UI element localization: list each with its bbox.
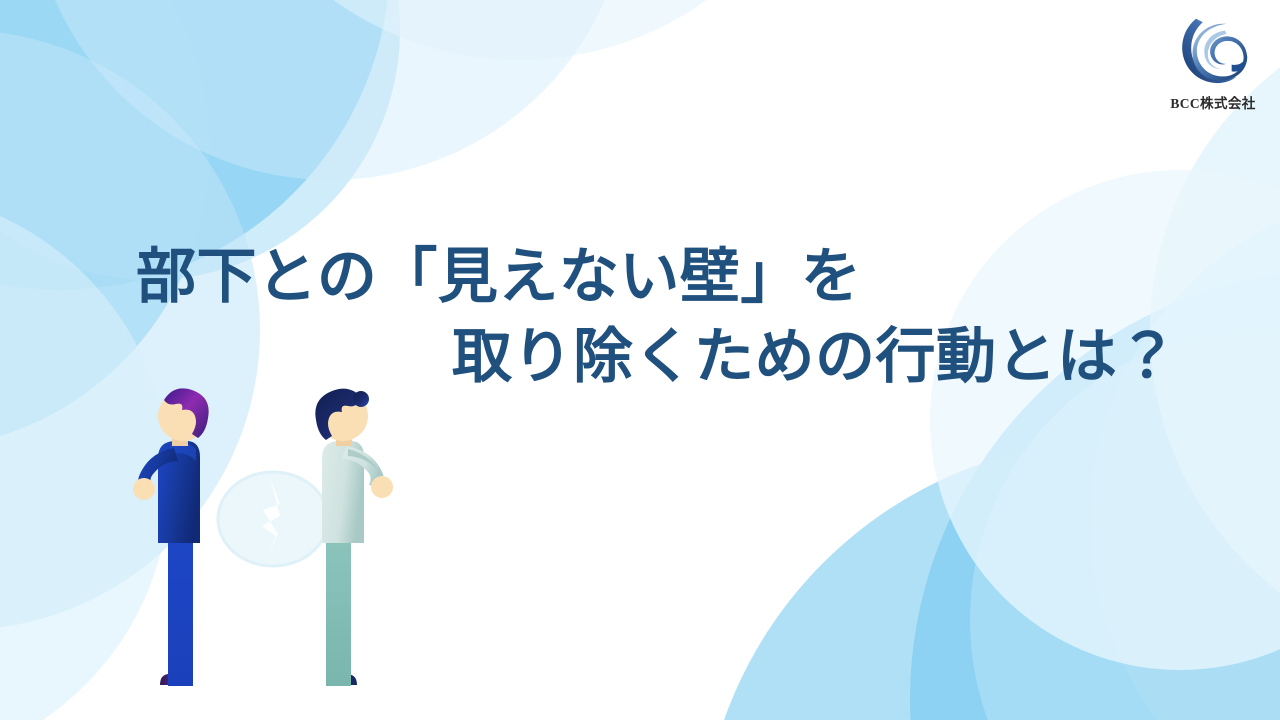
company-name-label: BCC株式会社 bbox=[1158, 92, 1268, 112]
slide-title: 部下との「見えない壁」を 取り除くための行動とは？ bbox=[0, 238, 1280, 398]
bg-circle-tl-7 bbox=[200, 0, 840, 60]
subordinate-pants bbox=[326, 534, 351, 686]
title-line-1: 部下との「見えない壁」を bbox=[0, 238, 1280, 318]
invisible-wall-bubble-icon bbox=[218, 472, 328, 566]
bg-circle-br-2 bbox=[700, 440, 1280, 720]
slide-root: BCC株式会社 部下との「見えない壁」を 取り除くための行動とは？ bbox=[0, 0, 1280, 720]
subordinate-hand bbox=[371, 476, 393, 498]
subordinate-figure bbox=[315, 389, 393, 686]
company-logo: BCC株式会社 bbox=[1158, 12, 1268, 112]
illustration-two-people bbox=[130, 386, 420, 706]
manager-figure bbox=[133, 388, 209, 686]
manager-pants bbox=[168, 534, 193, 686]
bcc-swirl-logo-icon bbox=[1170, 12, 1256, 90]
bg-circle-tl-6 bbox=[30, 0, 630, 180]
manager-hand bbox=[133, 478, 155, 500]
